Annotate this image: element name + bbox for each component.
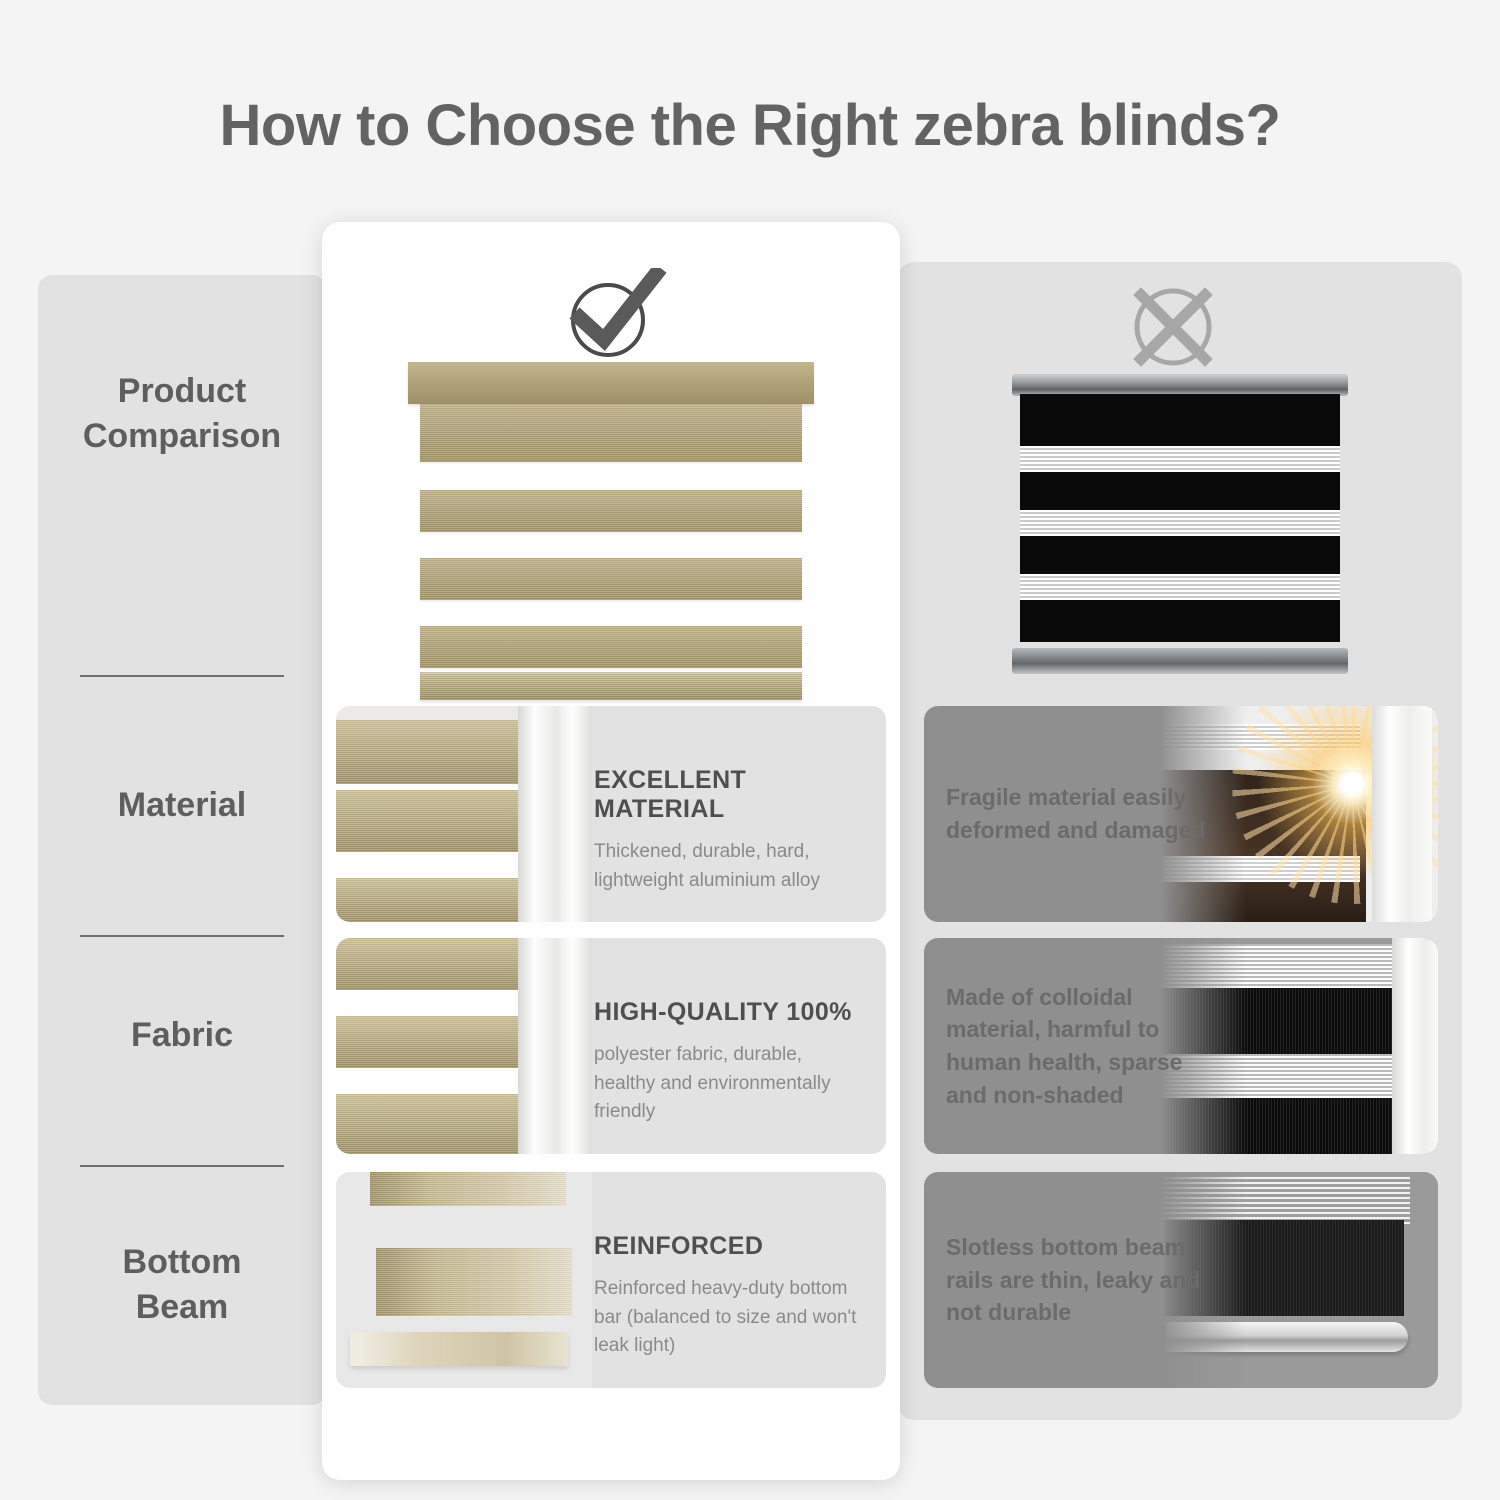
tan-blind-slat bbox=[420, 404, 802, 462]
bad-row-material: Fragile material easily deformed and dam… bbox=[924, 706, 1438, 922]
rail-label-text: Material bbox=[118, 783, 247, 828]
bad-row-bottom-beam: Slotless bottom beam rails are thin, lea… bbox=[924, 1172, 1438, 1388]
good-row-material-text: EXCELLENT MATERIAL Thickened, durable, h… bbox=[594, 706, 886, 922]
good-row-bottom-beam-text: REINFORCED Reinforced heavy-duty bottom … bbox=[594, 1172, 886, 1388]
tan-blind-slat bbox=[420, 490, 802, 532]
good-row-bottom-beam-image bbox=[336, 1172, 592, 1388]
cross-circle-icon bbox=[1128, 282, 1218, 372]
good-row-fabric-body: polyester fabric, durable, healthy and e… bbox=[594, 1041, 868, 1127]
bad-row-bottom-beam-text: Slotless bottom beam rails are thin, lea… bbox=[946, 1172, 1208, 1388]
check-circle-icon bbox=[560, 268, 670, 360]
rail-label-text: Fabric bbox=[131, 1013, 233, 1058]
tan-blind-headrail bbox=[408, 362, 814, 404]
category-rail: Product Comparison Material Fabric Botto… bbox=[38, 275, 326, 1405]
good-row-material-image bbox=[336, 706, 592, 922]
black-blind-sheer-stripe bbox=[1020, 446, 1340, 472]
tan-blind-slat bbox=[420, 558, 802, 600]
black-blind-bottom-rail bbox=[1012, 648, 1348, 674]
rail-label-fabric: Fabric bbox=[38, 975, 326, 1095]
good-row-bottom-beam-heading: REINFORCED bbox=[594, 1232, 868, 1261]
hero-image-tan-zebra-blind bbox=[408, 362, 814, 700]
black-blind-headrail bbox=[1012, 374, 1348, 396]
good-row-fabric-image bbox=[336, 938, 592, 1154]
good-row-fabric-heading: HIGH-QUALITY 100% bbox=[594, 998, 868, 1027]
black-blind-sheer-stripe bbox=[1020, 574, 1340, 600]
rail-label-bottom-beam: Bottom Beam bbox=[38, 1205, 326, 1365]
good-row-bottom-beam-body: Reinforced heavy-duty bottom bar (balanc… bbox=[594, 1275, 868, 1361]
good-row-bottom-beam: REINFORCED Reinforced heavy-duty bottom … bbox=[336, 1172, 886, 1388]
tan-blind-slat bbox=[420, 626, 802, 668]
good-row-fabric: HIGH-QUALITY 100% polyester fabric, dura… bbox=[336, 938, 886, 1154]
rail-label-material: Material bbox=[38, 745, 326, 865]
rail-divider-3 bbox=[80, 1165, 284, 1167]
good-row-material: EXCELLENT MATERIAL Thickened, durable, h… bbox=[336, 706, 886, 922]
good-row-material-heading: EXCELLENT MATERIAL bbox=[594, 766, 868, 824]
black-blind-sheer-stripe bbox=[1020, 510, 1340, 536]
black-blind-fabric bbox=[1020, 394, 1340, 642]
rail-label-text: Bottom Beam bbox=[123, 1240, 242, 1330]
bad-row-fabric-text: Made of colloidal material, harmful to h… bbox=[946, 938, 1208, 1154]
rail-label-text: Product Comparison bbox=[83, 369, 281, 459]
bad-row-fabric: Made of colloidal material, harmful to h… bbox=[924, 938, 1438, 1154]
bad-row-material-text: Fragile material easily deformed and dam… bbox=[946, 706, 1208, 922]
good-row-fabric-text: HIGH-QUALITY 100% polyester fabric, dura… bbox=[594, 938, 886, 1154]
hero-image-black-zebra-blind bbox=[1012, 374, 1348, 674]
page-title: How to Choose the Right zebra blinds? bbox=[0, 92, 1500, 159]
good-row-material-body: Thickened, durable, hard, lightweight al… bbox=[594, 838, 868, 895]
rail-divider-1 bbox=[80, 675, 284, 677]
tan-blind-bottom-rail bbox=[420, 672, 802, 700]
rail-label-product-comparison: Product Comparison bbox=[38, 309, 326, 519]
rail-divider-2 bbox=[80, 935, 284, 937]
